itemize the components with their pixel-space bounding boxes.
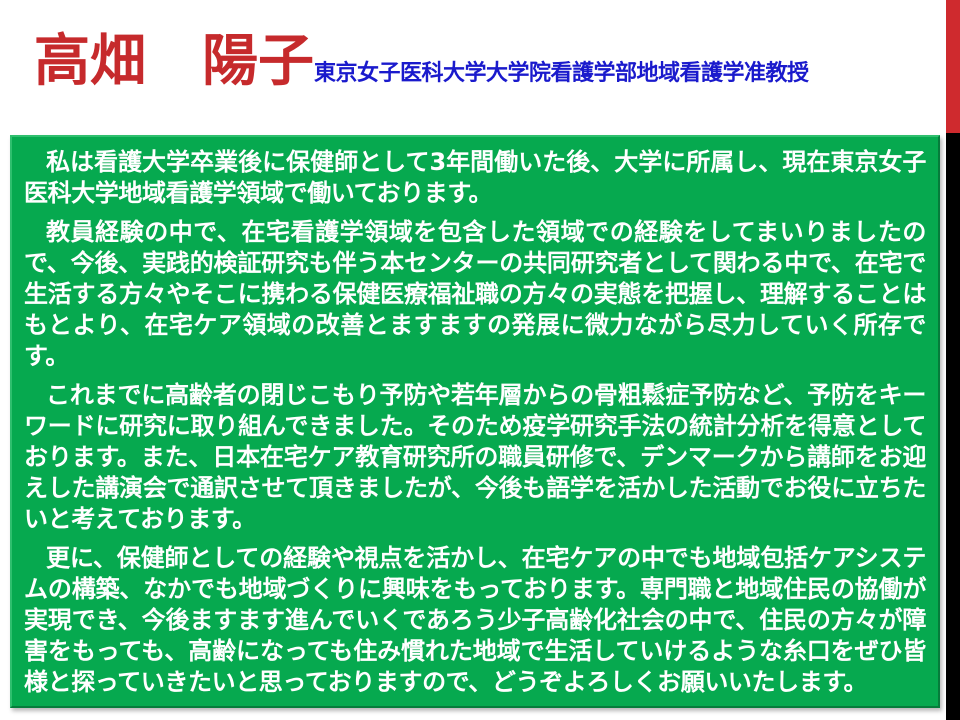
body-paragraph: 私は看護大学卒業後に保健師として3年間働いた後、大学に所属し、現在東京女子医科大… (24, 147, 926, 209)
right-accent-strip (946, 0, 960, 720)
slide-canvas: 高畑 陽子東京女子医科大学大学院看護学部地域看護学准教授 私は看護大学卒業後に保… (0, 0, 960, 720)
slide-header: 高畑 陽子東京女子医科大学大学院看護学部地域看護学准教授 (0, 0, 946, 130)
content-panel: 私は看護大学卒業後に保健師として3年間働いた後、大学に所属し、現在東京女子医科大… (10, 135, 940, 708)
page-subtitle-affiliation: 東京女子医科大学大学院看護学部地域看護学准教授 (314, 61, 809, 86)
body-paragraph: これまでに高齢者の閉じこもり予防や若年層からの骨粗鬆症予防など、予防をキーワード… (24, 380, 926, 535)
body-paragraph: 更に、保健師としての経験や視点を活かし、在宅ケアの中でも地域包括ケアシステムの構… (24, 543, 926, 698)
page-title: 高畑 陽子 (34, 29, 314, 94)
right-accent-strip-red (946, 0, 960, 133)
body-paragraph: 教員経験の中で、在宅看護学領域を包含した領域での経験をしてまいりましたので、今後… (24, 217, 926, 372)
title-line: 高畑 陽子東京女子医科大学大学院看護学部地域看護学准教授 (34, 34, 934, 90)
